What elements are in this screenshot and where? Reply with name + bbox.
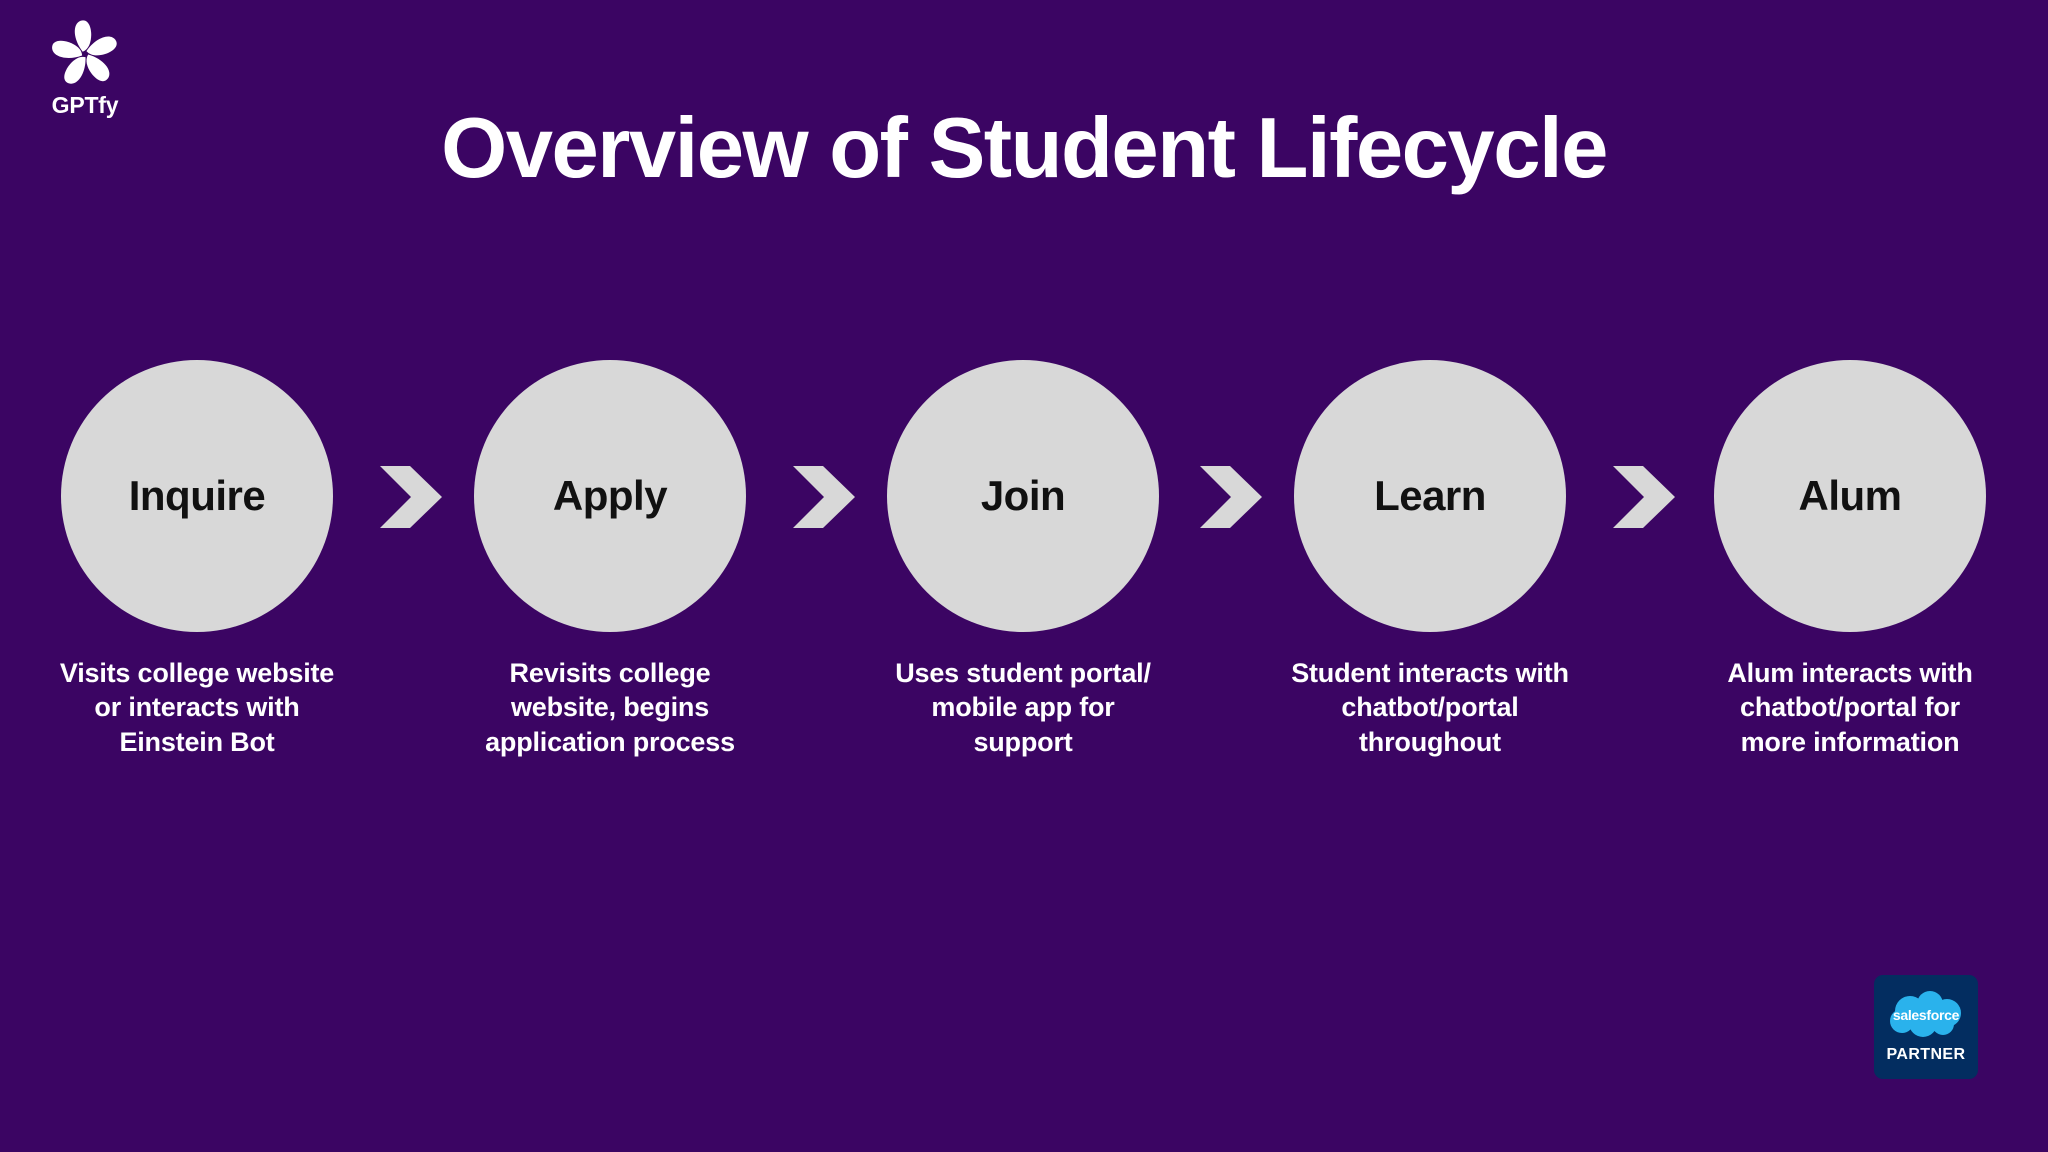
caption-line: Revisits college xyxy=(450,656,770,690)
stage-caption: Uses student portal/ mobile app for supp… xyxy=(863,656,1183,759)
stage-alum[interactable]: Alum Alum interacts with chatbot/portal … xyxy=(1690,360,2010,759)
caption-line: chatbot/portal for xyxy=(1690,690,2010,724)
caption-line: application process xyxy=(450,725,770,759)
caption-line: Alum interacts with xyxy=(1690,656,2010,690)
stage-label: Alum xyxy=(1799,475,1902,517)
stage-caption: Student interacts with chatbot/portal th… xyxy=(1270,656,1590,759)
caption-line: more information xyxy=(1690,725,2010,759)
stage-apply[interactable]: Apply Revisits college website, begins a… xyxy=(450,360,770,759)
slide-canvas: GPTfy Overview of Student Lifecycle Inqu… xyxy=(0,0,2048,1152)
chevron-right-icon xyxy=(1200,466,1266,528)
stage-caption: Revisits college website, begins applica… xyxy=(450,656,770,759)
page-title: Overview of Student Lifecycle xyxy=(0,104,2048,193)
chevron-right-icon xyxy=(380,466,446,528)
stage-label: Join xyxy=(981,475,1065,517)
caption-line: website, begins xyxy=(450,690,770,724)
caption-line: Visits college website xyxy=(37,656,357,690)
salesforce-wordmark: salesforce xyxy=(1885,991,1967,1039)
chevron-right-icon xyxy=(793,466,859,528)
gptfy-pinwheel-icon xyxy=(49,18,121,90)
stage-circle[interactable]: Join xyxy=(887,360,1159,632)
caption-line: Student interacts with xyxy=(1270,656,1590,690)
caption-line: support xyxy=(863,725,1183,759)
partner-tier-label: PARTNER xyxy=(1887,1046,1966,1064)
caption-line: throughout xyxy=(1270,725,1590,759)
stage-circle[interactable]: Alum xyxy=(1714,360,1986,632)
stage-learn[interactable]: Learn Student interacts with chatbot/por… xyxy=(1270,360,1590,759)
stage-label: Apply xyxy=(553,475,667,517)
salesforce-cloud-icon: salesforce xyxy=(1885,991,1967,1039)
stage-inquire[interactable]: Inquire Visits college website or intera… xyxy=(37,360,357,759)
stage-label: Inquire xyxy=(129,475,266,517)
stage-caption: Alum interacts with chatbot/portal for m… xyxy=(1690,656,2010,759)
caption-line: Einstein Bot xyxy=(37,725,357,759)
stage-circle[interactable]: Apply xyxy=(474,360,746,632)
lifecycle-flow: Inquire Visits college website or intera… xyxy=(0,360,2048,790)
stage-caption: Visits college website or interacts with… xyxy=(37,656,357,759)
stage-circle[interactable]: Inquire xyxy=(61,360,333,632)
salesforce-partner-badge: salesforce PARTNER xyxy=(1874,975,1978,1079)
stage-circle[interactable]: Learn xyxy=(1294,360,1566,632)
caption-line: Uses student portal/ xyxy=(863,656,1183,690)
caption-line: chatbot/portal xyxy=(1270,690,1590,724)
stage-join[interactable]: Join Uses student portal/ mobile app for… xyxy=(863,360,1183,759)
caption-line: or interacts with xyxy=(37,690,357,724)
chevron-right-icon xyxy=(1613,466,1679,528)
stage-label: Learn xyxy=(1374,475,1486,517)
caption-line: mobile app for xyxy=(863,690,1183,724)
